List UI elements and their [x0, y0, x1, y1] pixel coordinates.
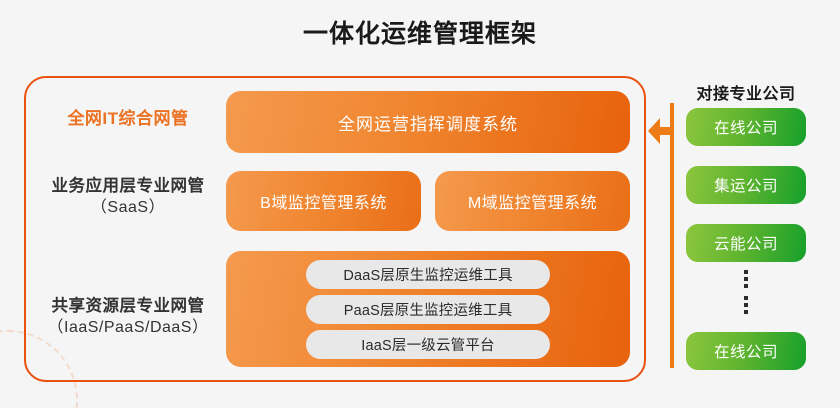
box-label: B域监控管理系统 [260, 189, 387, 213]
vertical-connector-rail [670, 103, 674, 368]
pill-label: PaaS层原生监控运维工具 [344, 299, 513, 320]
diagram-canvas: 一体化运维管理框架 全网IT综合网管 业务应用层专业网管 （SaaS） 共享资源… [0, 0, 840, 408]
partner-column-heading: 对接专业公司 [686, 80, 806, 104]
layer-label-line2: （SaaS） [30, 197, 226, 219]
ellipsis-group [744, 270, 748, 288]
pill-paas-native-tool[interactable]: PaaS层原生监控运维工具 [306, 295, 550, 324]
box-m-domain-monitoring[interactable]: M域监控管理系统 [435, 171, 630, 231]
layer-label-iaas-paas-daas: 共享资源层专业网管 （IaaS/PaaS/DaaS） [30, 295, 226, 339]
layer-label-column: 全网IT综合网管 业务应用层专业网管 （SaaS） 共享资源层专业网管 （Iaa… [30, 80, 226, 380]
vertical-ellipsis-icon [686, 270, 806, 314]
pill-daas-native-tool[interactable]: DaaS层原生监控运维工具 [306, 260, 550, 289]
layer-label-line2: （IaaS/PaaS/DaaS） [30, 317, 226, 339]
partner-company-online-1[interactable]: 在线公司 [686, 108, 806, 146]
ellipsis-dot [744, 284, 748, 288]
ellipsis-dot [744, 303, 748, 307]
ellipsis-dot [744, 296, 748, 300]
row-shared-resource-tools: DaaS层原生监控运维工具 PaaS层原生监控运维工具 IaaS层一级云管平台 [226, 251, 630, 367]
pill-label: DaaS层原生监控运维工具 [343, 264, 512, 285]
partner-label: 在线公司 [714, 116, 778, 138]
box-b-domain-monitoring[interactable]: B域监控管理系统 [226, 171, 421, 231]
ellipsis-group [744, 296, 748, 314]
layer-label-saas: 业务应用层专业网管 （SaaS） [30, 175, 226, 219]
pill-label: IaaS层一级云管平台 [361, 334, 495, 355]
partner-company-cloud-energy[interactable]: 云能公司 [686, 224, 806, 262]
layer-label-network-management: 全网IT综合网管 [30, 108, 226, 131]
row-saas-systems: B域监控管理系统 M域监控管理系统 [226, 171, 630, 231]
box-label: 全网运营指挥调度系统 [338, 110, 518, 135]
page-title: 一体化运维管理框架 [0, 14, 840, 50]
ellipsis-dot [744, 310, 748, 314]
partner-label: 集运公司 [714, 174, 778, 196]
arrow-head [648, 118, 660, 144]
box-label: M域监控管理系统 [468, 189, 597, 213]
box-operations-command-system[interactable]: 全网运营指挥调度系统 [226, 91, 630, 153]
partner-company-online-2[interactable]: 在线公司 [686, 332, 806, 370]
layer-label-line1: 全网IT综合网管 [30, 108, 226, 131]
ellipsis-dot [744, 270, 748, 274]
ellipsis-dot [744, 277, 748, 281]
partner-company-logistics[interactable]: 集运公司 [686, 166, 806, 204]
partner-label: 云能公司 [714, 232, 778, 254]
pill-iaas-cloud-platform[interactable]: IaaS层一级云管平台 [306, 330, 550, 359]
layer-label-line1: 共享资源层专业网管 [30, 295, 226, 317]
layer-label-line1: 业务应用层专业网管 [30, 175, 226, 197]
partner-label: 在线公司 [714, 340, 778, 362]
